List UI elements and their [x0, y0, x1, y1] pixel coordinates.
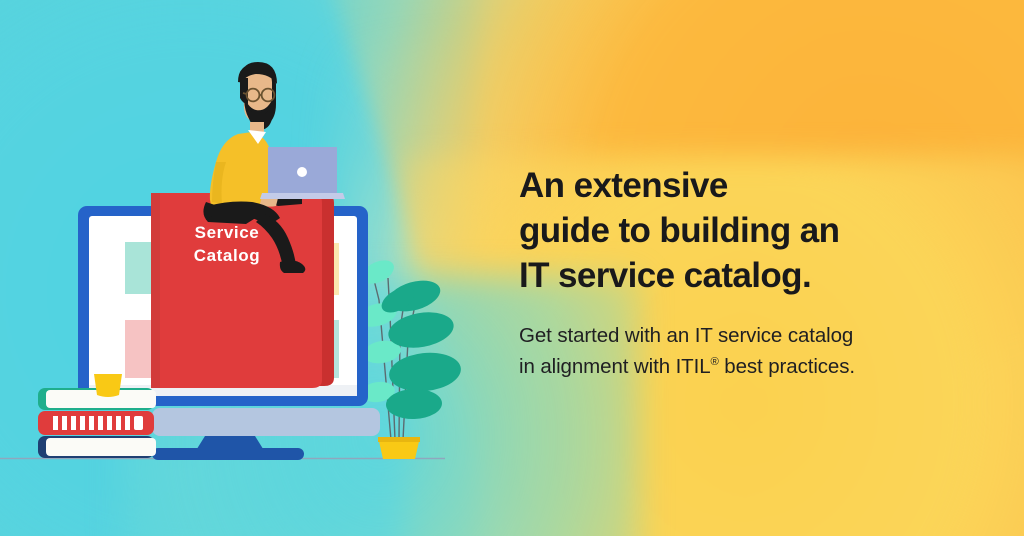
- promo-banner: Service Catalog: [0, 0, 1024, 536]
- plant-pot-rim: [378, 437, 420, 442]
- laptop-logo-icon: [297, 167, 307, 177]
- subhead-line-2-after: best practices.: [719, 355, 855, 378]
- book-stack: [38, 388, 156, 458]
- laptop-base: [260, 193, 345, 199]
- hero-illustration: Service Catalog: [0, 0, 500, 536]
- registered-mark: ®: [711, 356, 719, 368]
- headline-line-1: An extensive: [519, 166, 728, 205]
- book-middle-pagemarks: [53, 416, 143, 430]
- laptop: [260, 147, 345, 199]
- yellow-cup: [94, 374, 122, 397]
- page-subtitle: Get started with an IT service catalog i…: [519, 320, 939, 382]
- subhead-line-1: Get started with an IT service catalog: [519, 324, 853, 347]
- book-spine: [151, 193, 160, 388]
- page-title: An extensive guide to building an IT ser…: [519, 163, 939, 298]
- monitor-stand-bar: [152, 408, 380, 436]
- book-title-line2: Catalog: [194, 246, 261, 265]
- person-sideburn: [240, 78, 248, 104]
- banner-text-column: An extensive guide to building an IT ser…: [519, 163, 939, 382]
- subhead-line-2-before: in alignment with ITIL: [519, 355, 711, 378]
- book-bottom-pages: [46, 438, 156, 456]
- illustration-svg: Service Catalog: [0, 0, 500, 536]
- headline-line-3: IT service catalog.: [519, 256, 811, 295]
- book-title-line1: Service: [195, 223, 260, 242]
- headline-line-2: guide to building an: [519, 211, 839, 250]
- monitor-base: [152, 448, 304, 460]
